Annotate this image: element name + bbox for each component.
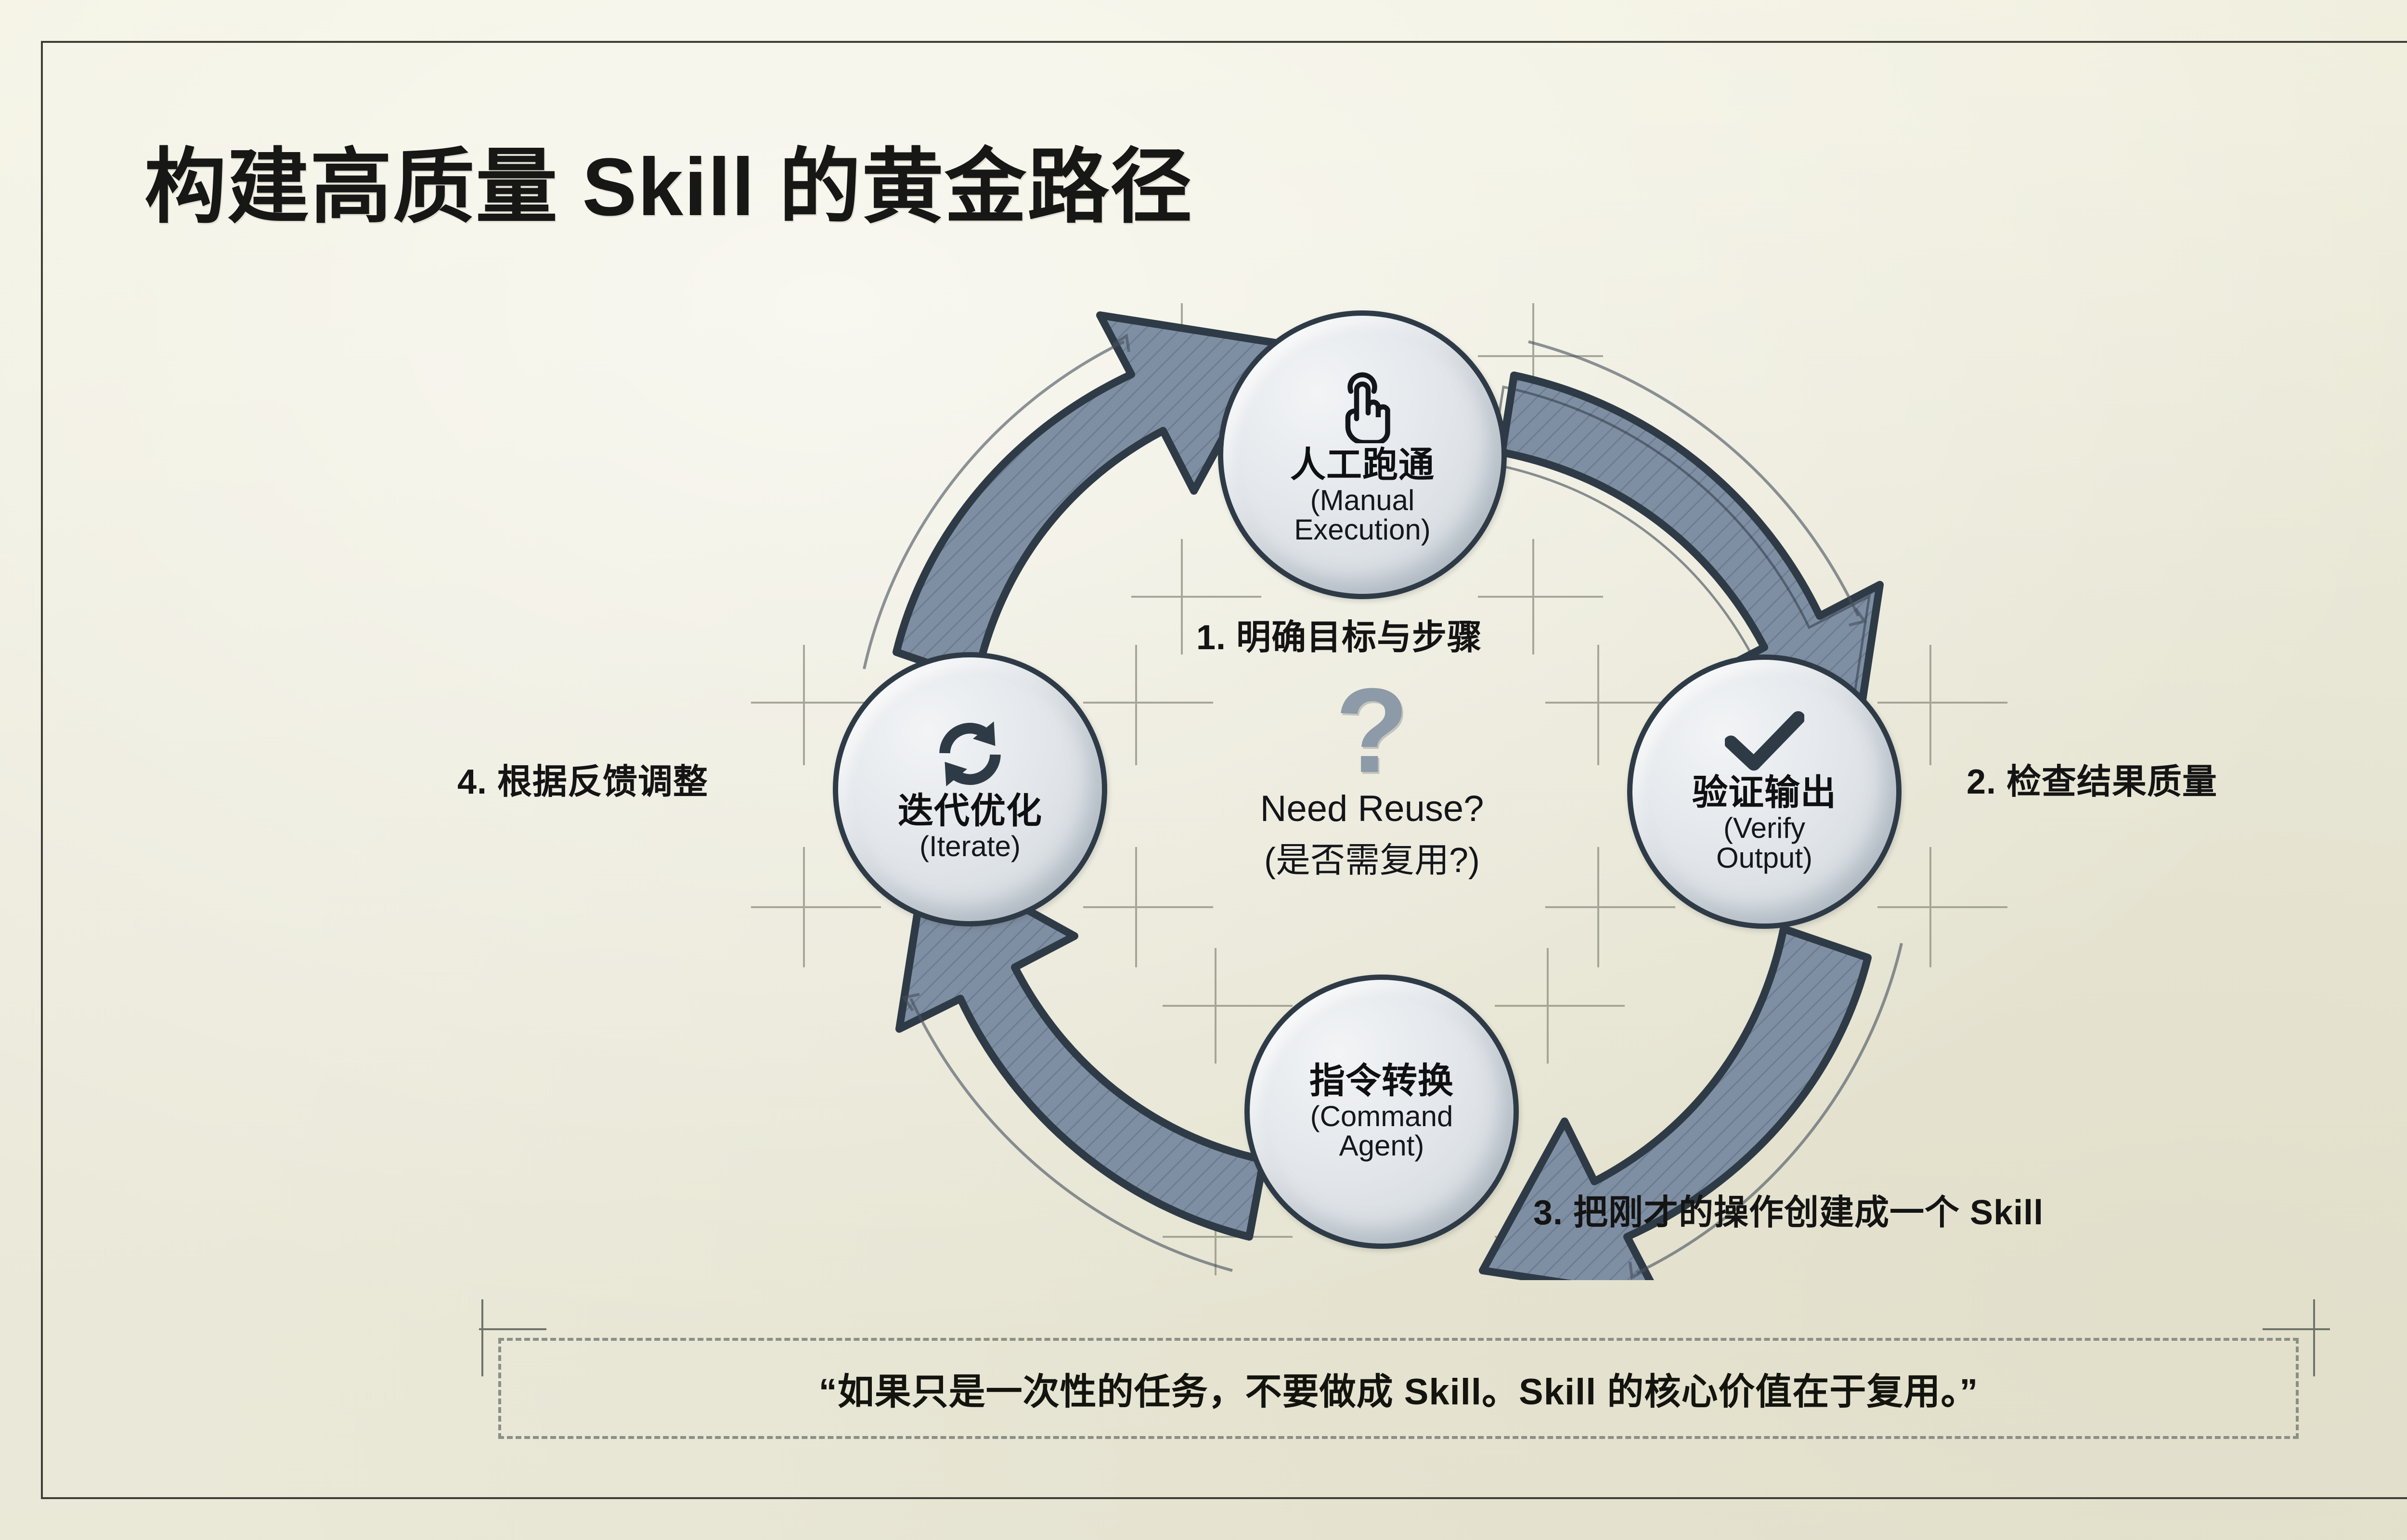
cycle-node-subtitle: (Command Agent) <box>1302 1102 1461 1160</box>
quote-text: “如果只是一次性的任务，不要做成 Skill。Skill 的核心价值在于复用。” <box>819 1362 1979 1415</box>
cycle-node-command-agent[interactable]: 指令转换 (Command Agent) <box>1244 975 1519 1249</box>
cycle-node-subtitle: (Verify Output) <box>1685 813 1844 872</box>
cycle-node-title: 人工跑通 <box>1290 447 1435 483</box>
cycle-node-title: 指令转换 <box>1309 1063 1454 1099</box>
cycle-node-subtitle: (Manual Execution) <box>1283 486 1442 544</box>
blueprint-tick-horizontal-right <box>2263 1328 2330 1330</box>
cycle-node-title: 迭代优化 <box>898 793 1042 829</box>
question-mark-icon: ? <box>1199 679 1545 782</box>
hub-question-zh: (是否需复用?) <box>1199 832 1545 882</box>
cycle-node-iterate[interactable]: 迭代优化 (Iterate) <box>833 652 1107 926</box>
cycle-node-verify-output[interactable]: 验证输出 (Verify Output) <box>1627 654 1902 929</box>
hub-question-en: Need Reuse? <box>1199 788 1545 830</box>
quote-callout-box: “如果只是一次性的任务，不要做成 Skill。Skill 的核心价值在于复用。” <box>498 1338 2299 1439</box>
step-label-2: 2. 检查结果质量 <box>1967 753 2217 804</box>
cycle-node-title: 验证输出 <box>1692 775 1837 810</box>
blueprint-tick-vertical-right <box>2313 1299 2315 1376</box>
cycle-hub-decision: ? Need Reuse? (是否需复用?) <box>1199 679 1545 882</box>
cycle-node-manual-execution[interactable]: 人工跑通 (Manual Execution) <box>1218 310 1507 599</box>
page-title: 构建高质量 Skill 的黄金路径 <box>144 120 1193 239</box>
hand-tap-icon <box>1326 365 1398 443</box>
step-label-4: 4. 根据反馈调整 <box>457 753 708 804</box>
checkmark-icon <box>1725 711 1804 771</box>
step-label-3: 3. 把刚才的操作创建成一个 Skill <box>1533 1184 2044 1234</box>
blueprint-tick-horizontal <box>479 1328 546 1330</box>
cycle-node-subtitle: (Iterate) <box>919 832 1021 861</box>
blueprint-tick-vertical <box>481 1299 483 1376</box>
refresh-cycle-icon <box>932 717 1009 789</box>
step-label-1: 1. 明确目标与步骤 <box>1196 609 1482 659</box>
